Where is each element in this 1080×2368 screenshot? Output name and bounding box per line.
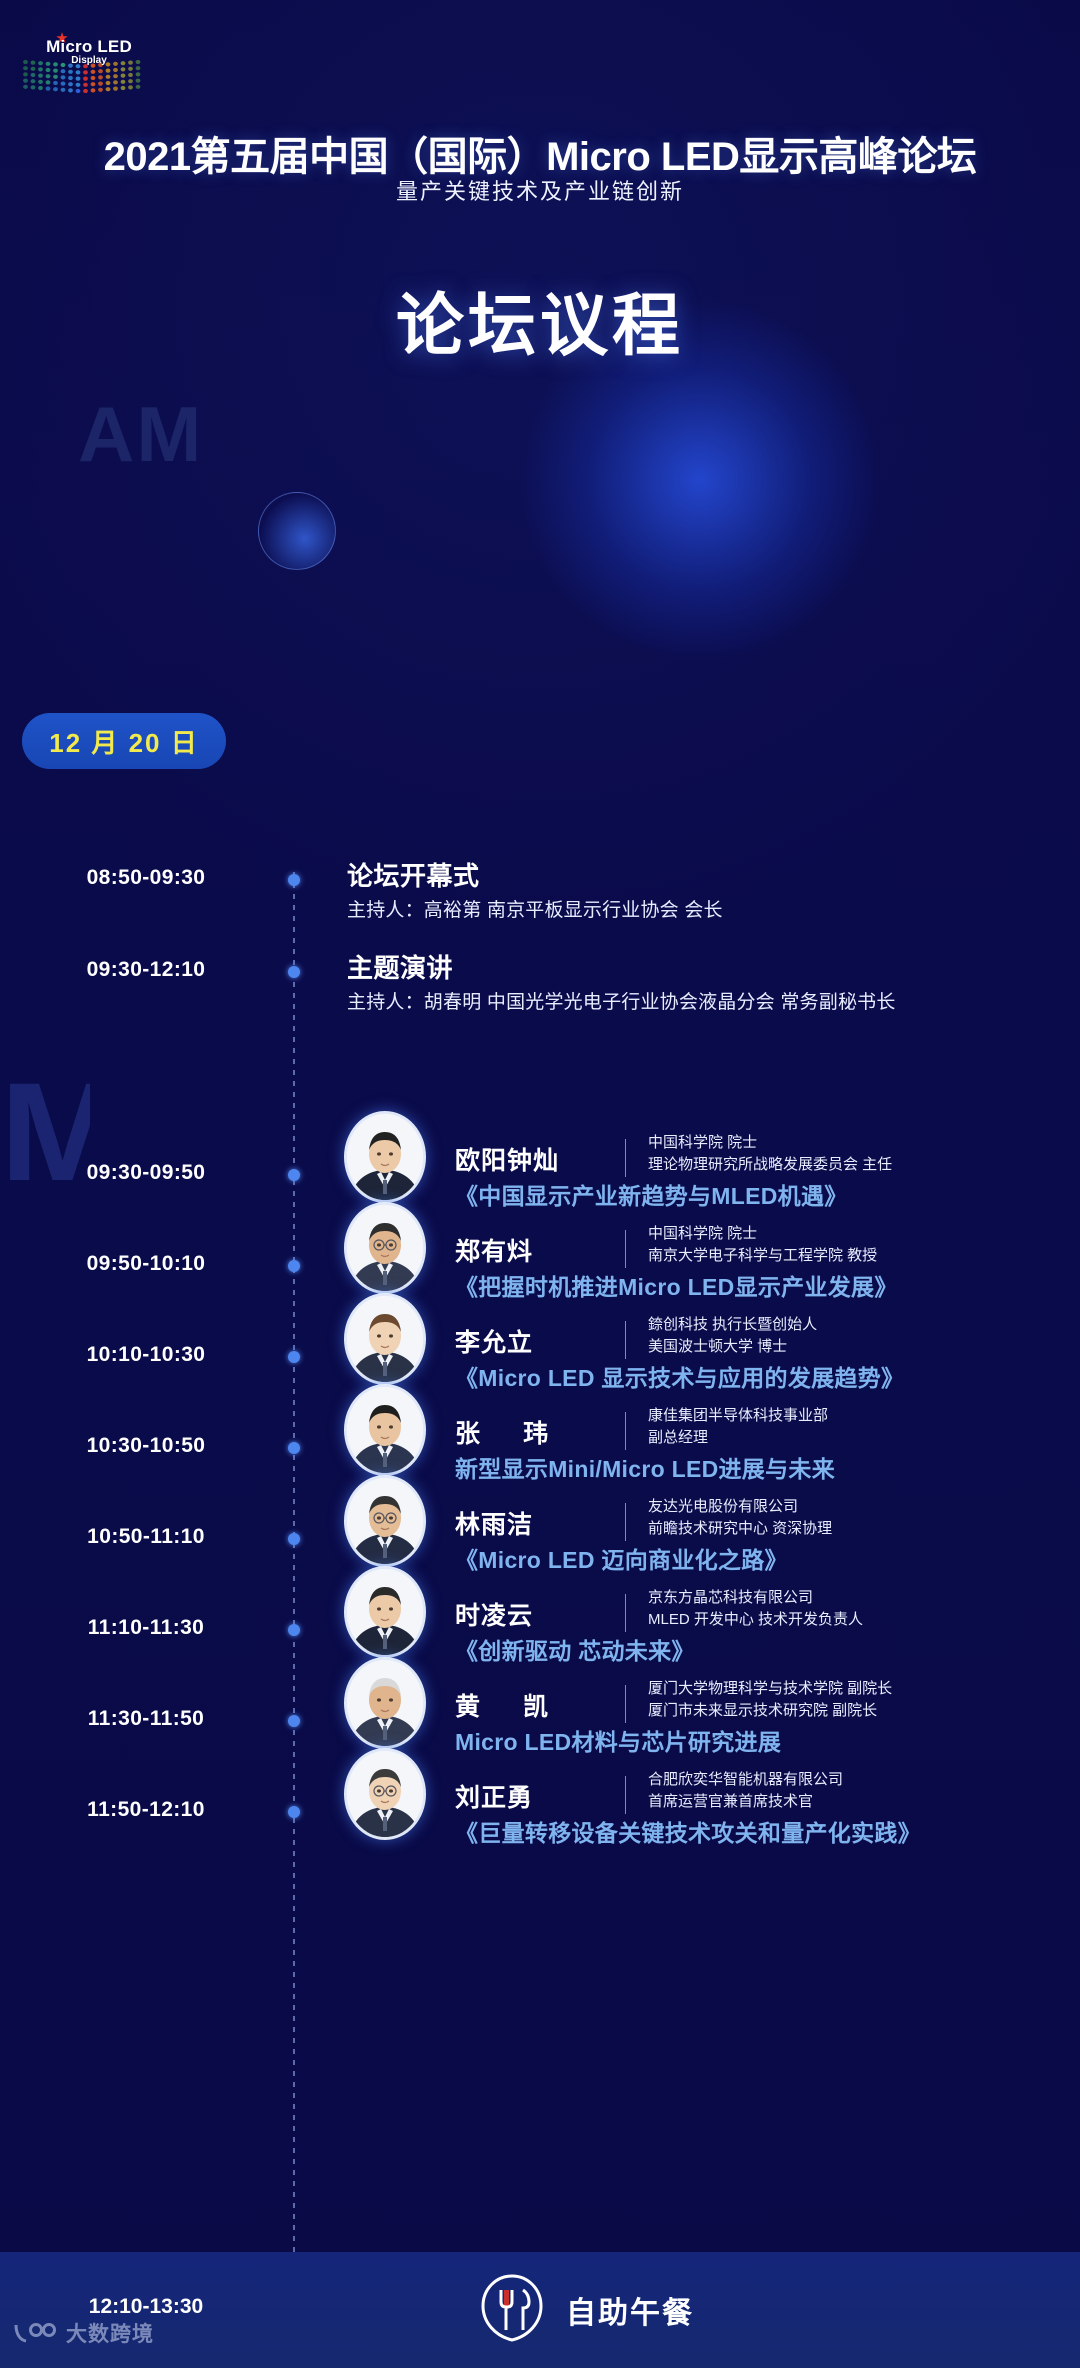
- dashu-kuajing-logo-icon: [12, 2322, 58, 2344]
- avatar-ouyang-zhongcan: [347, 1114, 423, 1200]
- date-badge: 12 月 20 日: [22, 713, 226, 769]
- speaker-topic: 新型显示Mini/Micro LED进展与未来: [455, 1450, 835, 1484]
- avatar-liu-zhengyong: [347, 1751, 423, 1837]
- speaker-name: 时凌云: [455, 1596, 533, 1632]
- avatar-lin-yujie: [347, 1478, 423, 1564]
- speaker-topic: 《把握时机推进Micro LED显示产业发展》: [455, 1268, 898, 1302]
- lunch-time: 12:10-13:30: [10, 2295, 282, 2319]
- speaker-name: 李允立: [455, 1323, 533, 1359]
- speaker-org-line-1: 錼创科技 执行长暨创始人: [648, 1314, 817, 1336]
- agenda-time: 10:30-10:50: [10, 1434, 282, 1458]
- site-watermark: 大数跨境: [12, 2318, 154, 2348]
- timeline-dot: [288, 966, 300, 978]
- speaker-divider: [625, 1412, 626, 1450]
- speaker-name: 欧阳钟灿: [455, 1141, 559, 1177]
- watermark-text: 大数跨境: [66, 2318, 154, 2348]
- avatar-zhang-wei: [347, 1387, 423, 1473]
- hero-heading: 论坛议程: [0, 270, 1080, 369]
- speaker-org-line-2: 首席运营官兼首席技术官: [648, 1791, 813, 1813]
- timeline-dot: [288, 1260, 300, 1272]
- avatar-shi-lingyun: [347, 1569, 423, 1655]
- timeline-dot: [288, 1169, 300, 1181]
- speaker-org-line-1: 京东方晶芯科技有限公司: [648, 1587, 813, 1609]
- speaker-org-line-2: 副总经理: [648, 1427, 708, 1449]
- speaker-divider: [625, 1139, 626, 1177]
- speaker-name: 黄 凯: [455, 1687, 566, 1723]
- speaker-topic: 《Micro LED 显示技术与应用的发展趋势》: [455, 1359, 904, 1393]
- timeline-dot: [288, 1806, 300, 1818]
- speaker-topic: 《中国显示产业新趋势与MLED机遇》: [455, 1177, 848, 1211]
- poster-canvas: M Micro LED Display 2021第五届中国（国际）Micro L…: [0, 0, 1080, 2368]
- speaker-org-line-1: 康佳集团半导体科技事业部: [648, 1405, 828, 1427]
- session-title: 论坛开幕式: [347, 856, 480, 893]
- date-badge-label: 12 月 20 日: [49, 723, 199, 760]
- speaker-divider: [625, 1776, 626, 1814]
- session-title: 主题演讲: [347, 948, 453, 985]
- session-host: 主持人：高裕第 南京平板显示行业协会 会长: [347, 895, 723, 922]
- agenda-time: 11:10-11:30: [10, 1616, 282, 1640]
- speaker-name: 张 玮: [455, 1414, 566, 1450]
- agenda-time: 09:30-09:50: [10, 1161, 282, 1185]
- speaker-topic: Micro LED材料与芯片研究进展: [455, 1723, 781, 1757]
- agenda-time: 09:50-10:10: [10, 1252, 282, 1276]
- agenda-time: 11:50-12:10: [10, 1798, 282, 1822]
- agenda-time: 08:50-09:30: [10, 866, 282, 890]
- logo-sub-text: Display: [36, 56, 142, 66]
- avatar-li-yunli: [347, 1296, 423, 1382]
- speaker-name: 刘正勇: [455, 1778, 533, 1814]
- speaker-divider: [625, 1594, 626, 1632]
- am-watermark: AM: [78, 395, 203, 473]
- logo-main-text: Micro LED: [36, 38, 142, 55]
- speaker-topic: 《Micro LED 迈向商业化之路》: [455, 1541, 788, 1575]
- speaker-org-line-2: MLED 开发中心 技术开发负责人: [648, 1609, 863, 1631]
- speaker-org-line-1: 厦门大学物理科学与技术学院 副院长: [648, 1678, 892, 1700]
- timeline-dot: [288, 1351, 300, 1363]
- micro-led-display-logo: Micro LED Display: [22, 24, 142, 94]
- decorative-ring: [258, 492, 336, 570]
- fork-spoon-icon: [479, 2272, 545, 2344]
- agenda-time: 10:50-11:10: [10, 1525, 282, 1549]
- speaker-org-line-1: 中国科学院 院士: [648, 1132, 757, 1154]
- agenda-time: 11:30-11:50: [10, 1707, 282, 1731]
- lunch-label: 自助午餐: [566, 2288, 694, 2332]
- speaker-name: 郑有炓: [455, 1232, 533, 1268]
- timeline-dot: [288, 1533, 300, 1545]
- speaker-org-line-2: 美国波士顿大学 博士: [648, 1336, 787, 1358]
- speaker-org-line-1: 中国科学院 院士: [648, 1223, 757, 1245]
- speaker-org-line-2: 南京大学电子科学与工程学院 教授: [648, 1245, 877, 1267]
- agenda-time: 09:30-12:10: [10, 958, 282, 982]
- speaker-divider: [625, 1321, 626, 1359]
- speaker-name: 林雨洁: [455, 1505, 533, 1541]
- speaker-org-line-1: 友达光电股份有限公司: [648, 1496, 798, 1518]
- speaker-divider: [625, 1685, 626, 1723]
- avatar-zheng-youliao: [347, 1205, 423, 1291]
- timeline-dot: [288, 874, 300, 886]
- speaker-topic: 《巨量转移设备关键技术攻关和量产化实践》: [455, 1814, 921, 1848]
- avatar-huang-kai: [347, 1660, 423, 1746]
- speaker-org-line-2: 厦门市未来显示技术研究院 副院长: [648, 1700, 877, 1722]
- speaker-org-line-2: 前瞻技术研究中心 资深协理: [648, 1518, 832, 1540]
- speaker-divider: [625, 1503, 626, 1541]
- timeline-dot: [288, 1442, 300, 1454]
- speaker-org-line-2: 理论物理研究所战略发展委员会 主任: [648, 1154, 892, 1176]
- page-subtitle: 量产关键技术及产业链创新: [0, 174, 1080, 206]
- speaker-topic: 《创新驱动 芯动未来》: [455, 1632, 695, 1666]
- speaker-divider: [625, 1230, 626, 1268]
- speaker-org-line-1: 合肥欣奕华智能机器有限公司: [648, 1769, 843, 1791]
- timeline-dot: [288, 1715, 300, 1727]
- session-host: 主持人：胡春明 中国光学光电子行业协会液晶分会 常务副秘书长: [347, 987, 896, 1014]
- timeline-dot: [288, 1624, 300, 1636]
- agenda-time: 10:10-10:30: [10, 1343, 282, 1367]
- timeline-rail: [293, 872, 295, 2270]
